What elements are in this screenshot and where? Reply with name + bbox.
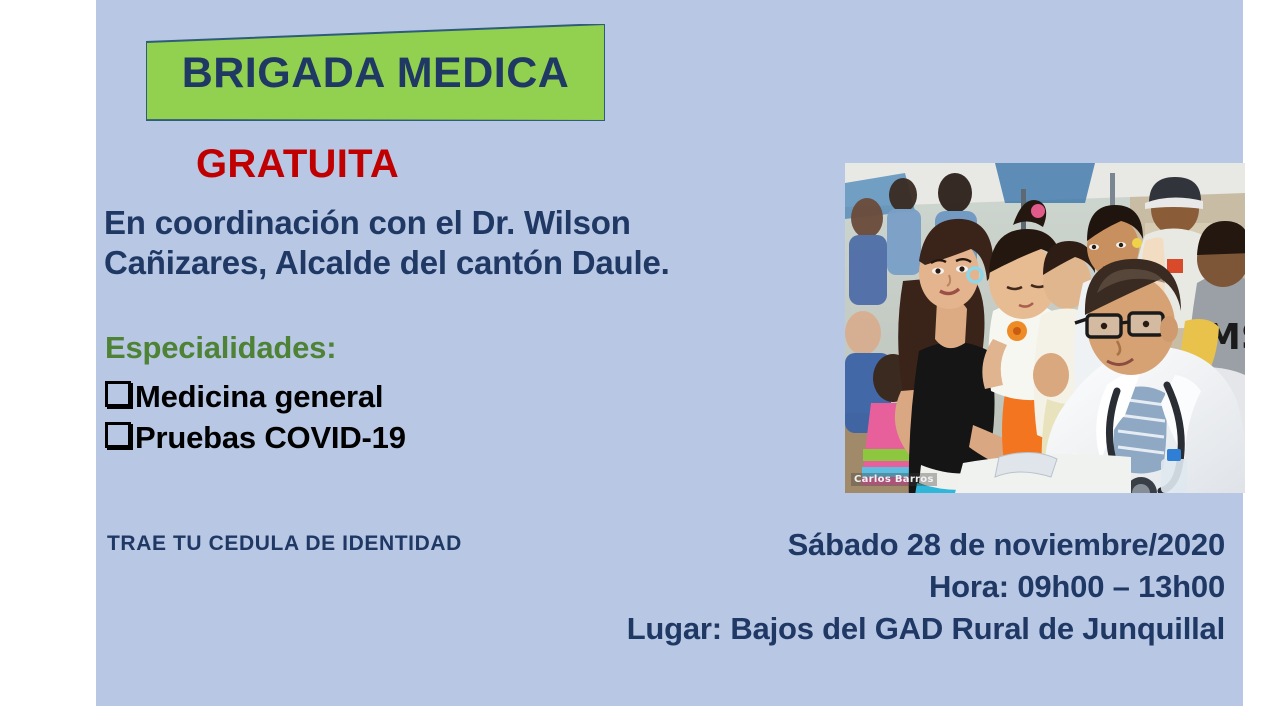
photo-watermark: Carlos Barros <box>851 473 937 486</box>
hollow-square-bullet-icon <box>105 381 131 407</box>
coordination-text: En coordinación con el Dr. Wilson Cañiza… <box>104 203 864 284</box>
list-item: Pruebas COVID-19 <box>105 418 406 459</box>
list-item-label: Medicina general <box>135 379 383 414</box>
specialties-heading: Especialidades: <box>105 330 336 366</box>
event-info: Sábado 28 de noviembre/2020 Hora: 09h00 … <box>545 524 1225 650</box>
list-item: Medicina general <box>105 377 406 418</box>
coordination-line-2: Cañizares, Alcalde del cantón Daule. <box>104 243 864 283</box>
event-time: Hora: 09h00 – 13h00 <box>545 566 1225 608</box>
medical-brigade-photo: MS <box>845 163 1245 493</box>
page-title: BRIGADA MEDICA <box>146 52 605 95</box>
hollow-square-bullet-icon <box>105 422 131 448</box>
photo-artwork: MS <box>845 163 1245 493</box>
slide-canvas: BRIGADA MEDICA GRATUITA En coordinación … <box>0 0 1280 720</box>
id-notice: TRAE TU CEDULA DE IDENTIDAD <box>107 532 462 556</box>
title-banner: BRIGADA MEDICA <box>146 24 605 121</box>
event-place: Lugar: Bajos del GAD Rural de Junquillal <box>545 608 1225 650</box>
event-date: Sábado 28 de noviembre/2020 <box>545 524 1225 566</box>
list-item-label: Pruebas COVID-19 <box>135 420 406 455</box>
free-label: GRATUITA <box>196 143 399 185</box>
specialties-list: Medicina general Pruebas COVID-19 <box>105 377 406 459</box>
coordination-line-1: En coordinación con el Dr. Wilson <box>104 203 864 243</box>
